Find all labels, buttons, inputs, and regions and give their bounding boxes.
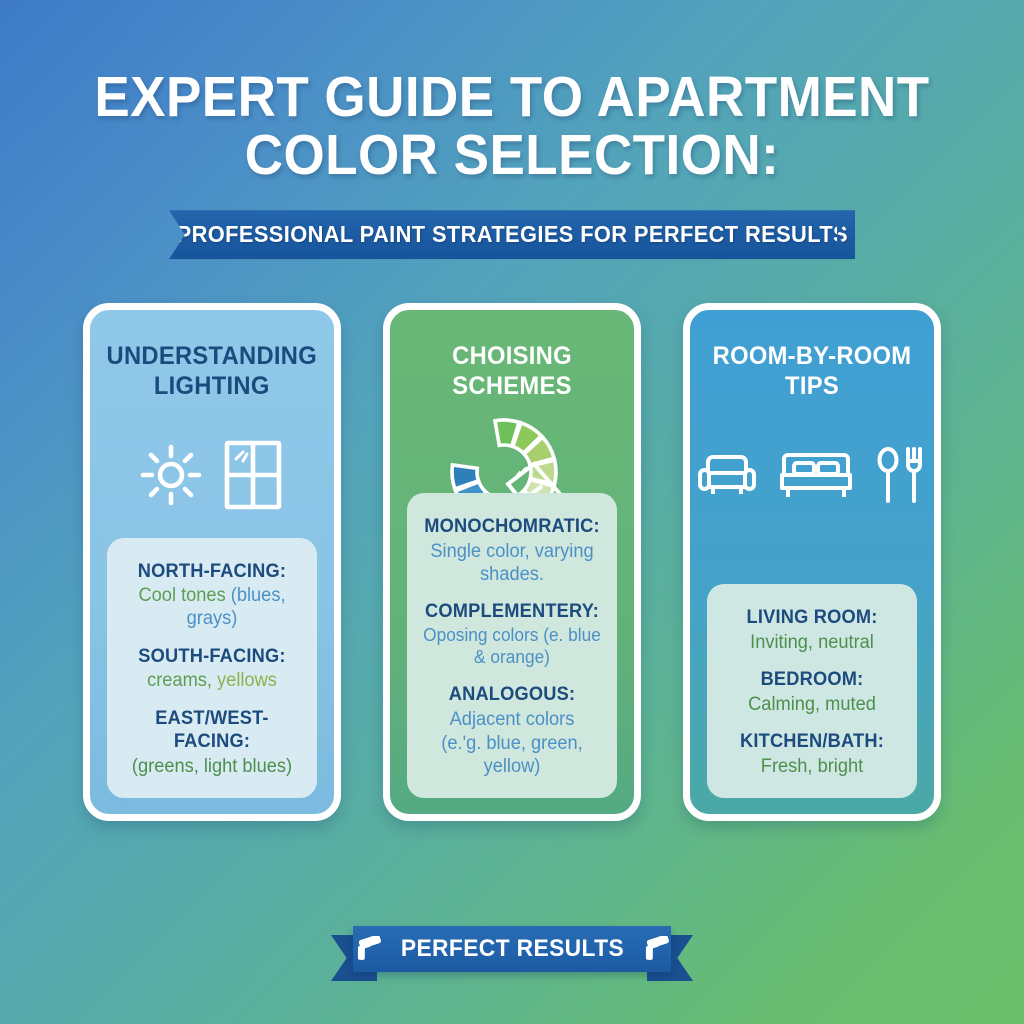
paint-roller-icon xyxy=(641,936,671,962)
entry-bedroom: BEDROOM: Calming, muted xyxy=(715,668,909,716)
header: EXPERT GUIDE TO APARTMENT COLOR SELECTIO… xyxy=(0,0,1024,259)
bed-icon xyxy=(777,447,855,503)
entry-analogous: ANALOGOUS: Adjacent colors (e.'g. blue, … xyxy=(415,683,609,778)
subtitle-ribbon-body: PROFESSIONAL PAINT STRATEGIES FOR PERFEC… xyxy=(169,210,855,259)
entry-label: ANALOGOUS: xyxy=(419,683,605,707)
entry-label: SOUTH-FACING: xyxy=(119,645,305,669)
footer-ribbon-body: PERFECT RESULTS xyxy=(353,926,671,972)
entry-value: (greens, light blues) xyxy=(119,755,305,778)
entry-complementary: COMPLEMENTERY: Oposing colors (e. blue &… xyxy=(415,600,609,669)
page-title-line-1: EXPERT GUIDE TO APARTMENT xyxy=(94,65,929,129)
card-icon-row xyxy=(690,427,934,523)
entry-value: (e.'g. blue, green, yellow) xyxy=(419,732,605,778)
spoon-fork-icon xyxy=(875,446,927,504)
entry-value-part: Inviting, neutral xyxy=(750,632,874,653)
page-title-line-2: COLOR SELECTION: xyxy=(36,126,988,184)
entry-value-part: yellows xyxy=(217,670,277,691)
card-room-by-room-tips[interactable]: ROOM-BY-ROOM TIPS xyxy=(683,303,941,821)
entry-south-facing: SOUTH-FACING: creams, yellows xyxy=(115,645,309,693)
subtitle-ribbon: PROFESSIONAL PAINT STRATEGIES FOR PERFEC… xyxy=(0,210,1024,259)
entry-value-part: Cool tones xyxy=(138,585,230,606)
entry-value-part: Adjacent colors xyxy=(450,709,575,730)
entry-value: creams, yellows xyxy=(119,669,305,692)
card-title: UNDERSTANDING LIGHTING xyxy=(93,342,330,401)
entry-value-part: Single color, varying shades. xyxy=(430,541,593,585)
entry-value-part: (e.'g. blue, green, yellow) xyxy=(441,733,582,777)
entry-label: COMPLEMENTERY: xyxy=(419,600,605,624)
card-understanding-lighting[interactable]: UNDERSTANDING LIGHTING xyxy=(83,303,341,821)
card-icon-row xyxy=(90,427,334,523)
entry-value: Fresh, bright xyxy=(719,755,905,778)
entry-label: KITCHEN/BATH: xyxy=(719,730,905,754)
entry-value-part: Fresh, bright xyxy=(761,756,863,777)
sun-icon xyxy=(140,444,202,506)
entry-north-facing: NORTH-FACING: Cool tones (blues, grays) xyxy=(115,560,309,631)
entry-label: EAST/WEST-FACING: xyxy=(119,707,305,755)
entry-monochromatic: MONOCHOMRATIC: Single color, varying sha… xyxy=(415,515,609,586)
entry-label: BEDROOM: xyxy=(719,668,905,692)
card-title: CHOISING SCHEMES xyxy=(396,342,628,401)
entry-value: Inviting, neutral xyxy=(719,631,905,654)
footer: PERFECT RESULTS xyxy=(0,926,1024,972)
page-title: EXPERT GUIDE TO APARTMENT COLOR SELECTIO… xyxy=(36,68,988,184)
entry-value: Cool tones (blues, grays) xyxy=(119,584,305,630)
entry-value-part: creams, xyxy=(147,670,217,691)
entry-value-part: Calming, muted xyxy=(748,694,876,715)
entry-value-part: (greens, light blues) xyxy=(132,756,292,777)
entry-value: Adjacent colors xyxy=(419,708,605,731)
card-title: ROOM-BY-ROOM TIPS xyxy=(696,342,928,401)
footer-text: PERFECT RESULTS xyxy=(400,935,623,963)
entry-value: Single color, varying shades. xyxy=(419,540,605,586)
window-icon xyxy=(222,439,284,511)
entry-kitchen-bath: KITCHEN/BATH: Fresh, bright xyxy=(715,730,909,778)
paint-roller-icon xyxy=(353,936,383,962)
footer-ribbon: PERFECT RESULTS xyxy=(353,926,671,972)
entry-value: Calming, muted xyxy=(719,693,905,716)
card-panel: LIVING ROOM: Inviting, neutral BEDROOM: … xyxy=(707,584,917,798)
entry-value: Oposing colors (e. blue & orange) xyxy=(419,625,605,669)
entry-east-west-facing: EAST/WEST-FACING: (greens, light blues) xyxy=(115,707,309,779)
card-panel: MONOCHOMRATIC: Single color, varying sha… xyxy=(407,493,617,798)
entry-label: MONOCHOMRATIC: xyxy=(419,515,605,539)
subtitle-text: PROFESSIONAL PAINT STRATEGIES FOR PERFEC… xyxy=(176,221,847,248)
entry-label: NORTH-FACING: xyxy=(119,560,305,584)
cards-container: UNDERSTANDING LIGHTING xyxy=(0,303,1024,821)
entry-value-part: Oposing colors (e. blue & orange) xyxy=(423,625,601,667)
entry-living-room: LIVING ROOM: Inviting, neutral xyxy=(715,606,909,654)
card-panel: NORTH-FACING: Cool tones (blues, grays) … xyxy=(107,538,317,799)
sofa-icon xyxy=(697,449,757,501)
card-choising-schemes[interactable]: CHOISING SCHEMES MONOCHOMRATIC: Single c… xyxy=(383,303,641,821)
entry-label: LIVING ROOM: xyxy=(719,606,905,630)
